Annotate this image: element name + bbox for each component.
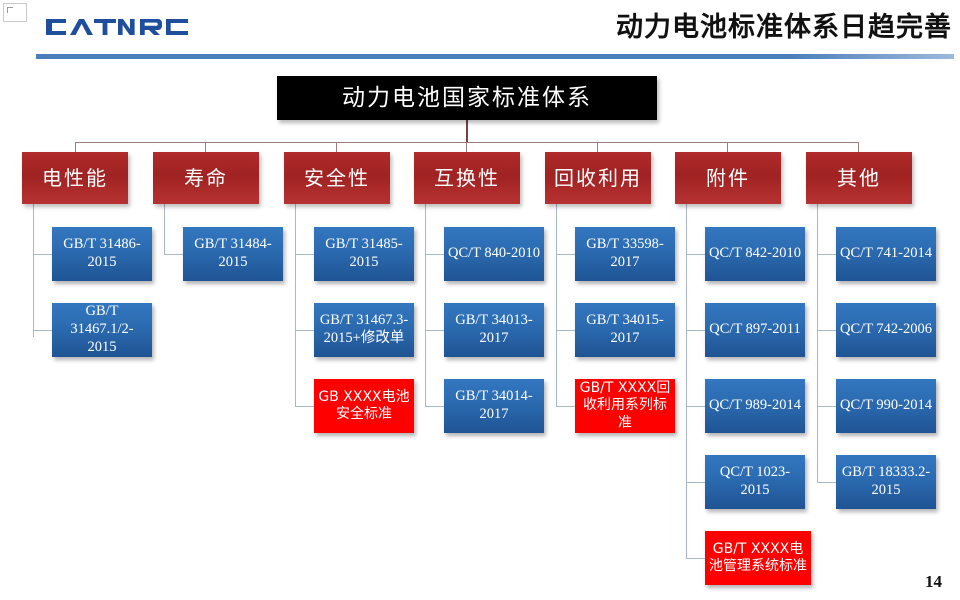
connector-branch-6-3: [817, 482, 837, 483]
page-title: 动力电池标准体系日趋完善: [616, 5, 952, 44]
standard-node-4-0[interactable]: GB/T 33598-2017: [575, 227, 675, 281]
connector-branch-6-0: [817, 254, 837, 255]
category-node-6[interactable]: 其他: [806, 152, 912, 204]
connector-branch-5-2: [686, 406, 706, 407]
standard-node-5-1[interactable]: QC/T 897-2011: [705, 303, 805, 357]
category-node-4[interactable]: 回收利用: [545, 152, 651, 204]
standard-node-2-0[interactable]: GB/T 31485-2015: [314, 227, 414, 281]
standard-node-4-1[interactable]: GB/T 34015-2017: [575, 303, 675, 357]
connector-branch-5-4: [686, 558, 706, 559]
category-node-1[interactable]: 寿命: [153, 152, 259, 204]
connector-branch-0-0: [33, 254, 53, 255]
standard-node-3-2[interactable]: GB/T 34014-2017: [444, 379, 544, 433]
slide-header: 动力电池标准体系日趋完善: [0, 0, 960, 56]
connector-branch-5-0: [686, 254, 706, 255]
standard-node-6-0[interactable]: QC/T 741-2014: [836, 227, 936, 281]
connector-spine-2: [295, 203, 296, 406]
connector-branch-2-0: [295, 254, 315, 255]
connector-spine-4: [556, 203, 557, 406]
standard-node-5-2[interactable]: QC/T 989-2014: [705, 379, 805, 433]
standard-node-0-1[interactable]: GB/T 31467.1/2-2015: [52, 303, 152, 357]
standard-node-5-3[interactable]: QC/T 1023-2015: [705, 455, 805, 509]
connector-branch-6-1: [817, 330, 837, 331]
page-number: 14: [925, 572, 942, 592]
corner-marker-icon: [3, 3, 27, 22]
standard-node-2-1[interactable]: GB/T 31467.3-2015+修改单: [314, 303, 414, 357]
category-node-0[interactable]: 电性能: [22, 152, 128, 204]
slide-canvas: 动力电池标准体系日趋完善 动力电池国家标准体系 电性能 寿命 安全性: [0, 0, 960, 600]
connector-branch-3-1: [425, 330, 445, 331]
connector-branch-5-3: [686, 482, 706, 483]
connector-branch-4-2: [556, 406, 576, 407]
standard-node-4-2[interactable]: GB/T XXXX回收利用系列标准: [575, 379, 675, 433]
connector-spine-3: [425, 203, 426, 406]
root-node[interactable]: 动力电池国家标准体系: [277, 76, 657, 120]
standard-node-5-0[interactable]: QC/T 842-2010: [705, 227, 805, 281]
connector-branch-0-1: [33, 330, 53, 331]
connector-spine-0: [33, 203, 34, 337]
category-node-3[interactable]: 互换性: [414, 152, 520, 204]
connector-branch-4-1: [556, 330, 576, 331]
connector-spine-1: [164, 203, 165, 255]
connector-branch-6-2: [817, 406, 837, 407]
standard-node-3-0[interactable]: QC/T 840-2010: [444, 227, 544, 281]
connector-spine-6: [817, 203, 818, 482]
standard-node-3-1[interactable]: GB/T 34013-2017: [444, 303, 544, 357]
connector-branch-2-2: [295, 406, 315, 407]
connector-branch-3-2: [425, 406, 445, 407]
category-node-5[interactable]: 附件: [675, 152, 781, 204]
catarc-logo: [44, 13, 194, 41]
category-node-2[interactable]: 安全性: [284, 152, 390, 204]
standard-node-6-1[interactable]: QC/T 742-2006: [836, 303, 936, 357]
standard-node-6-2[interactable]: QC/T 990-2014: [836, 379, 936, 433]
standard-node-5-4[interactable]: GB/T XXXX电池管理系统标准: [705, 531, 811, 585]
connector-branch-1-0: [164, 254, 184, 255]
connector-branch-4-0: [556, 254, 576, 255]
connector-branch-2-1: [295, 330, 315, 331]
standard-node-6-3[interactable]: GB/T 18333.2-2015: [836, 455, 936, 509]
standard-node-1-0[interactable]: GB/T 31484-2015: [183, 227, 283, 281]
standard-node-0-0[interactable]: GB/T 31486-2015: [52, 227, 152, 281]
connector-branch-5-1: [686, 330, 706, 331]
standard-node-2-2[interactable]: GB XXXX电池安全标准: [314, 379, 414, 433]
connector-root-stem: [466, 119, 468, 143]
connector-spine-5: [686, 203, 687, 558]
connector-branch-3-0: [425, 254, 445, 255]
header-divider: [36, 54, 954, 59]
